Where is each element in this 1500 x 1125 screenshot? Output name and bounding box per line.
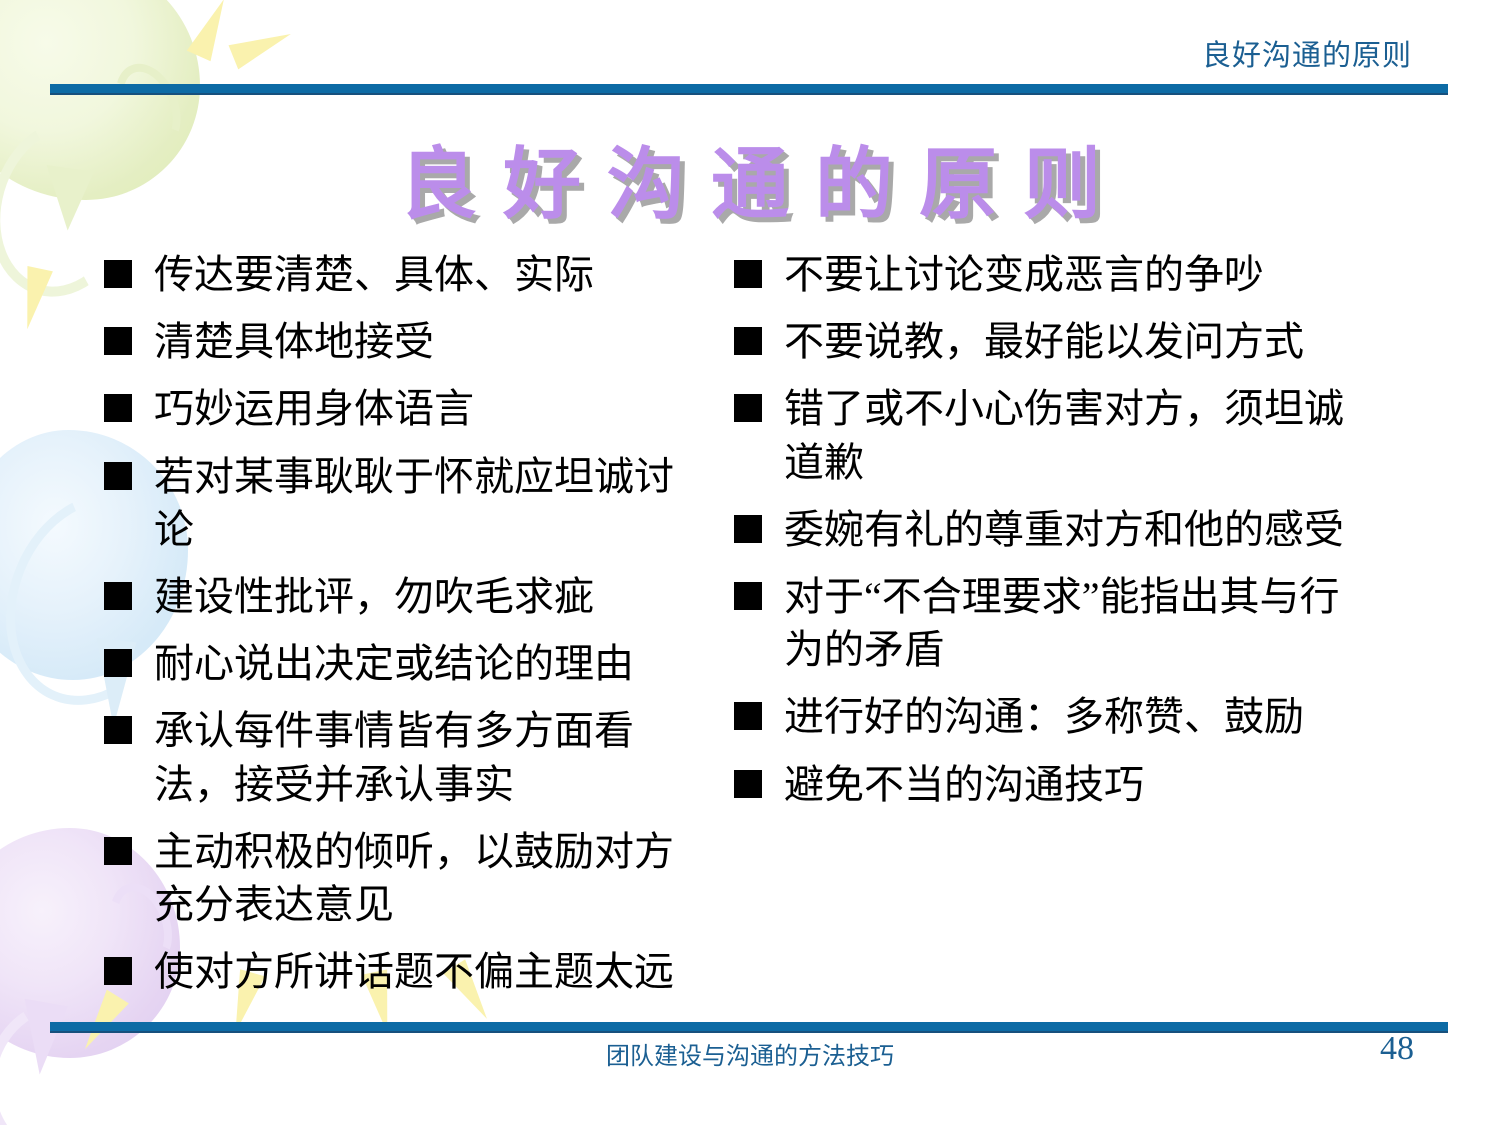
square-bullet-icon <box>734 327 762 355</box>
list-item-label: 不要让讨论变成恶言的争吵 <box>784 248 1360 301</box>
list-item-label: 承认每件事情皆有多方面看法，接受并承认事实 <box>154 704 704 810</box>
header-divider-rule <box>50 84 1448 95</box>
list-item-label: 错了或不小心伤害对方，须坦诚道歉 <box>784 382 1360 488</box>
square-bullet-icon <box>104 582 132 610</box>
page-number: 48 <box>1380 1030 1414 1068</box>
list-item: 巧妙运用身体语言 <box>104 382 704 435</box>
list-item: 主动积极的倾听，以鼓励对方充分表达意见 <box>104 825 704 931</box>
list-item: 避免不当的沟通技巧 <box>734 758 1360 811</box>
list-item-label: 避免不当的沟通技巧 <box>784 758 1360 811</box>
list-item-label: 委婉有礼的尊重对方和他的感受 <box>784 503 1360 556</box>
square-bullet-icon <box>734 394 762 422</box>
square-bullet-icon <box>734 515 762 543</box>
list-item: 若对某事耿耿于怀就应坦诚讨论 <box>104 450 704 556</box>
list-item-label: 清楚具体地接受 <box>154 315 704 368</box>
footer-label: 团队建设与沟通的方法技巧 <box>0 1036 1500 1071</box>
square-bullet-icon <box>104 716 132 744</box>
square-bullet-icon <box>104 394 132 422</box>
slide-header-title: 良好沟通的原则 <box>1202 32 1412 74</box>
list-item: 传达要清楚、具体、实际 <box>104 248 704 301</box>
list-item-label: 耐心说出决定或结论的理由 <box>154 637 704 690</box>
square-bullet-icon <box>734 260 762 288</box>
footer-divider-rule <box>50 1022 1448 1033</box>
list-item: 错了或不小心伤害对方，须坦诚道歉 <box>734 382 1360 488</box>
list-item-label: 不要说教，最好能以发问方式 <box>784 315 1360 368</box>
list-item: 委婉有礼的尊重对方和他的感受 <box>734 503 1360 556</box>
list-item: 清楚具体地接受 <box>104 315 704 368</box>
list-item-label: 进行好的沟通：多称赞、鼓励 <box>784 690 1360 743</box>
page-title: 良好沟通的原则 <box>0 122 1500 234</box>
right-bullet-column: 不要让讨论变成恶言的争吵 不要说教，最好能以发问方式 错了或不小心伤害对方，须坦… <box>720 248 1420 1012</box>
list-item-label: 主动积极的倾听，以鼓励对方充分表达意见 <box>154 825 704 931</box>
square-bullet-icon <box>734 582 762 610</box>
square-bullet-icon <box>104 837 132 865</box>
list-item: 使对方所讲话题不偏主题太远 <box>104 945 704 998</box>
list-item: 不要让讨论变成恶言的争吵 <box>734 248 1360 301</box>
list-item: 对于“不合理要求”能指出其与行为的矛盾 <box>734 570 1360 676</box>
list-item-label: 使对方所讲话题不偏主题太远 <box>154 945 704 998</box>
square-bullet-icon <box>104 462 132 490</box>
square-bullet-icon <box>104 260 132 288</box>
square-bullet-icon <box>104 649 132 677</box>
square-bullet-icon <box>104 327 132 355</box>
list-item: 承认每件事情皆有多方面看法，接受并承认事实 <box>104 704 704 810</box>
list-item-label: 建设性批评，勿吹毛求疵 <box>154 570 704 623</box>
left-bullet-column: 传达要清楚、具体、实际 清楚具体地接受 巧妙运用身体语言 若对某事耿耿于怀就应坦… <box>0 248 720 1012</box>
list-item: 不要说教，最好能以发问方式 <box>734 315 1360 368</box>
content-columns: 传达要清楚、具体、实际 清楚具体地接受 巧妙运用身体语言 若对某事耿耿于怀就应坦… <box>0 248 1500 1012</box>
list-item: 建设性批评，勿吹毛求疵 <box>104 570 704 623</box>
square-bullet-icon <box>734 702 762 730</box>
list-item-label: 若对某事耿耿于怀就应坦诚讨论 <box>154 450 704 556</box>
square-bullet-icon <box>104 957 132 985</box>
list-item-label: 巧妙运用身体语言 <box>154 382 704 435</box>
list-item-label: 对于“不合理要求”能指出其与行为的矛盾 <box>784 570 1360 676</box>
slide: 良好沟通的原则 良好沟通的原则 传达要清楚、具体、实际 清楚具体地接受 巧妙运用… <box>0 0 1500 1125</box>
list-item-label: 传达要清楚、具体、实际 <box>154 248 704 301</box>
square-bullet-icon <box>734 770 762 798</box>
list-item: 进行好的沟通：多称赞、鼓励 <box>734 690 1360 743</box>
list-item: 耐心说出决定或结论的理由 <box>104 637 704 690</box>
